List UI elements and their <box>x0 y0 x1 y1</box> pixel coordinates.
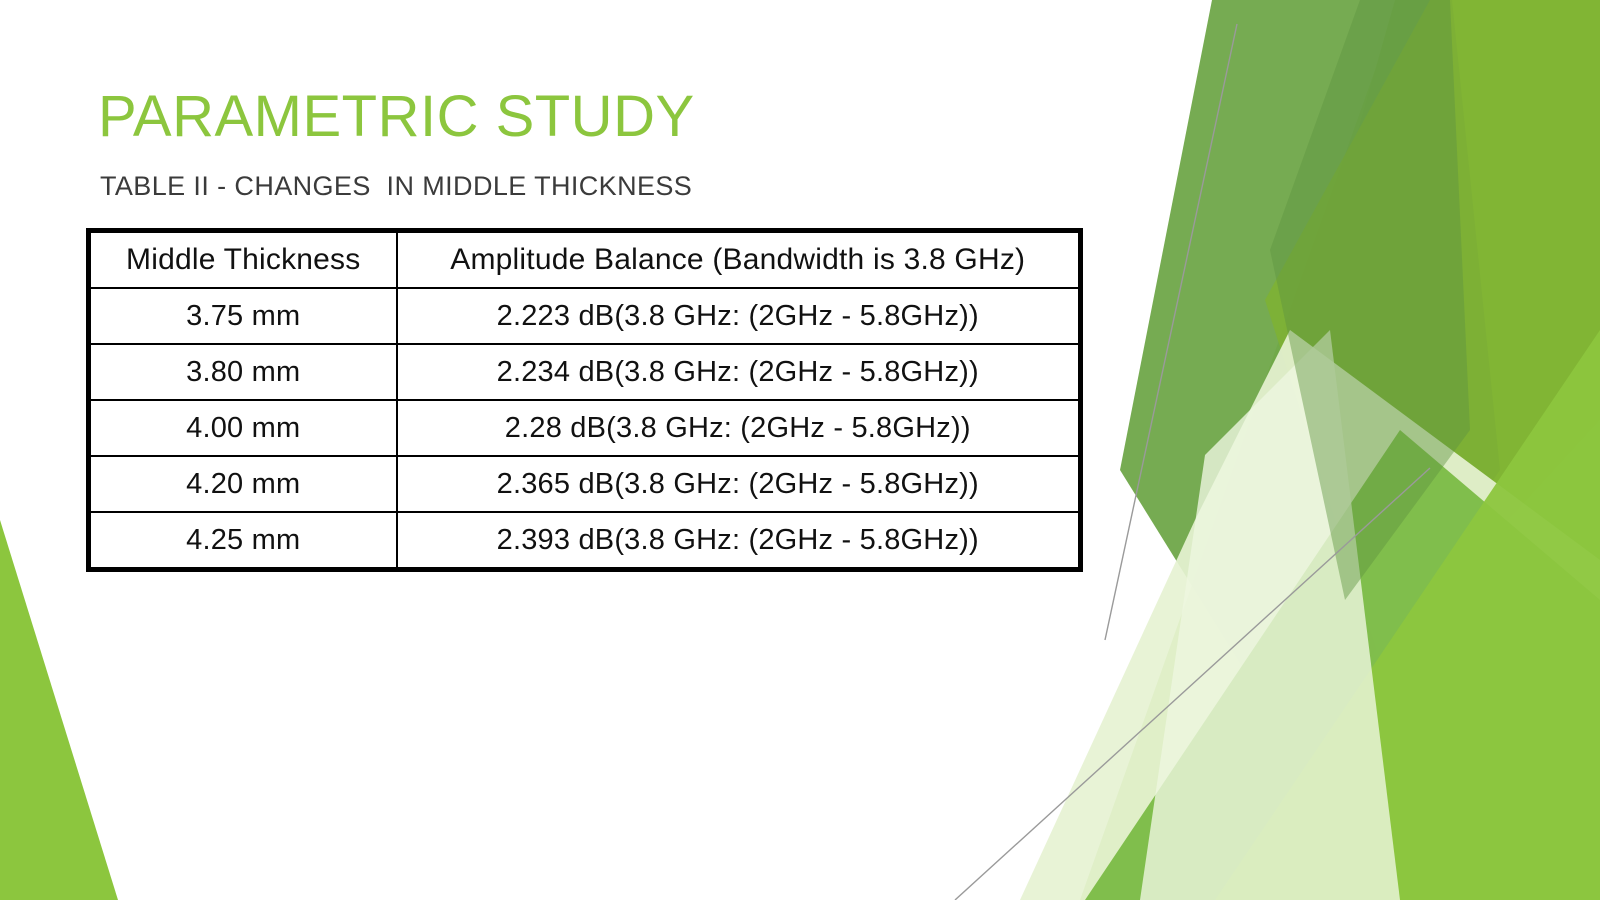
parametric-table-container: Middle Thickness Amplitude Balance (Band… <box>86 228 1078 572</box>
cell-middle-thickness: 3.75 mm <box>89 288 397 344</box>
parametric-results-table: Middle Thickness Amplitude Balance (Band… <box>86 228 1083 572</box>
title-block: PARAMETRIC STUDY <box>98 86 1098 148</box>
table-row: 4.00 mm 2.28 dB(3.8 GHz: (2GHz - 5.8GHz)… <box>89 400 1081 456</box>
deco-hairline-descending <box>1105 24 1237 640</box>
deco-shape-pale-sweep <box>1020 330 1600 900</box>
table-body: 3.75 mm 2.223 dB(3.8 GHz: (2GHz - 5.8GHz… <box>89 288 1081 570</box>
deco-shape-green-mid <box>1080 0 1600 900</box>
slide-subtitle: TABLE II - CHANGES IN MIDDLE THICKNESS <box>100 170 692 202</box>
table-row: 3.75 mm 2.223 dB(3.8 GHz: (2GHz - 5.8GHz… <box>89 288 1081 344</box>
deco-shape-green-diagonal <box>1085 430 1600 900</box>
presentation-slide: PARAMETRIC STUDY TABLE II - CHANGES IN M… <box>0 0 1600 900</box>
cell-middle-thickness: 4.20 mm <box>89 456 397 512</box>
column-header-middle-thickness: Middle Thickness <box>89 231 397 289</box>
cell-middle-thickness: 4.25 mm <box>89 512 397 570</box>
cell-amplitude-balance: 2.393 dB(3.8 GHz: (2GHz - 5.8GHz)) <box>397 512 1081 570</box>
deco-shape-pale-sliver <box>1140 330 1400 900</box>
deco-shape-green-dark <box>1120 0 1500 760</box>
table-header-row: Middle Thickness Amplitude Balance (Band… <box>89 231 1081 289</box>
cell-middle-thickness: 4.00 mm <box>89 400 397 456</box>
cell-middle-thickness: 3.80 mm <box>89 344 397 400</box>
cell-amplitude-balance: 2.365 dB(3.8 GHz: (2GHz - 5.8GHz)) <box>397 456 1081 512</box>
deco-shape-left-triangle <box>0 520 118 900</box>
cell-amplitude-balance: 2.28 dB(3.8 GHz: (2GHz - 5.8GHz)) <box>397 400 1081 456</box>
cell-amplitude-balance: 2.223 dB(3.8 GHz: (2GHz - 5.8GHz)) <box>397 288 1081 344</box>
deco-shape-lime-lower <box>1215 330 1600 900</box>
table-header: Middle Thickness Amplitude Balance (Band… <box>89 231 1081 289</box>
table-row: 4.25 mm 2.393 dB(3.8 GHz: (2GHz - 5.8GHz… <box>89 512 1081 570</box>
table-row: 3.80 mm 2.234 dB(3.8 GHz: (2GHz - 5.8GHz… <box>89 344 1081 400</box>
table-row: 4.20 mm 2.365 dB(3.8 GHz: (2GHz - 5.8GHz… <box>89 456 1081 512</box>
column-header-amplitude-balance: Amplitude Balance (Bandwidth is 3.8 GHz) <box>397 231 1081 289</box>
deco-shape-green-overlap <box>1265 0 1600 660</box>
deco-shape-lime-base <box>1140 0 1600 900</box>
cell-amplitude-balance: 2.234 dB(3.8 GHz: (2GHz - 5.8GHz)) <box>397 344 1081 400</box>
page-title: PARAMETRIC STUDY <box>98 86 1098 148</box>
deco-shape-dark-notch <box>1270 0 1470 600</box>
